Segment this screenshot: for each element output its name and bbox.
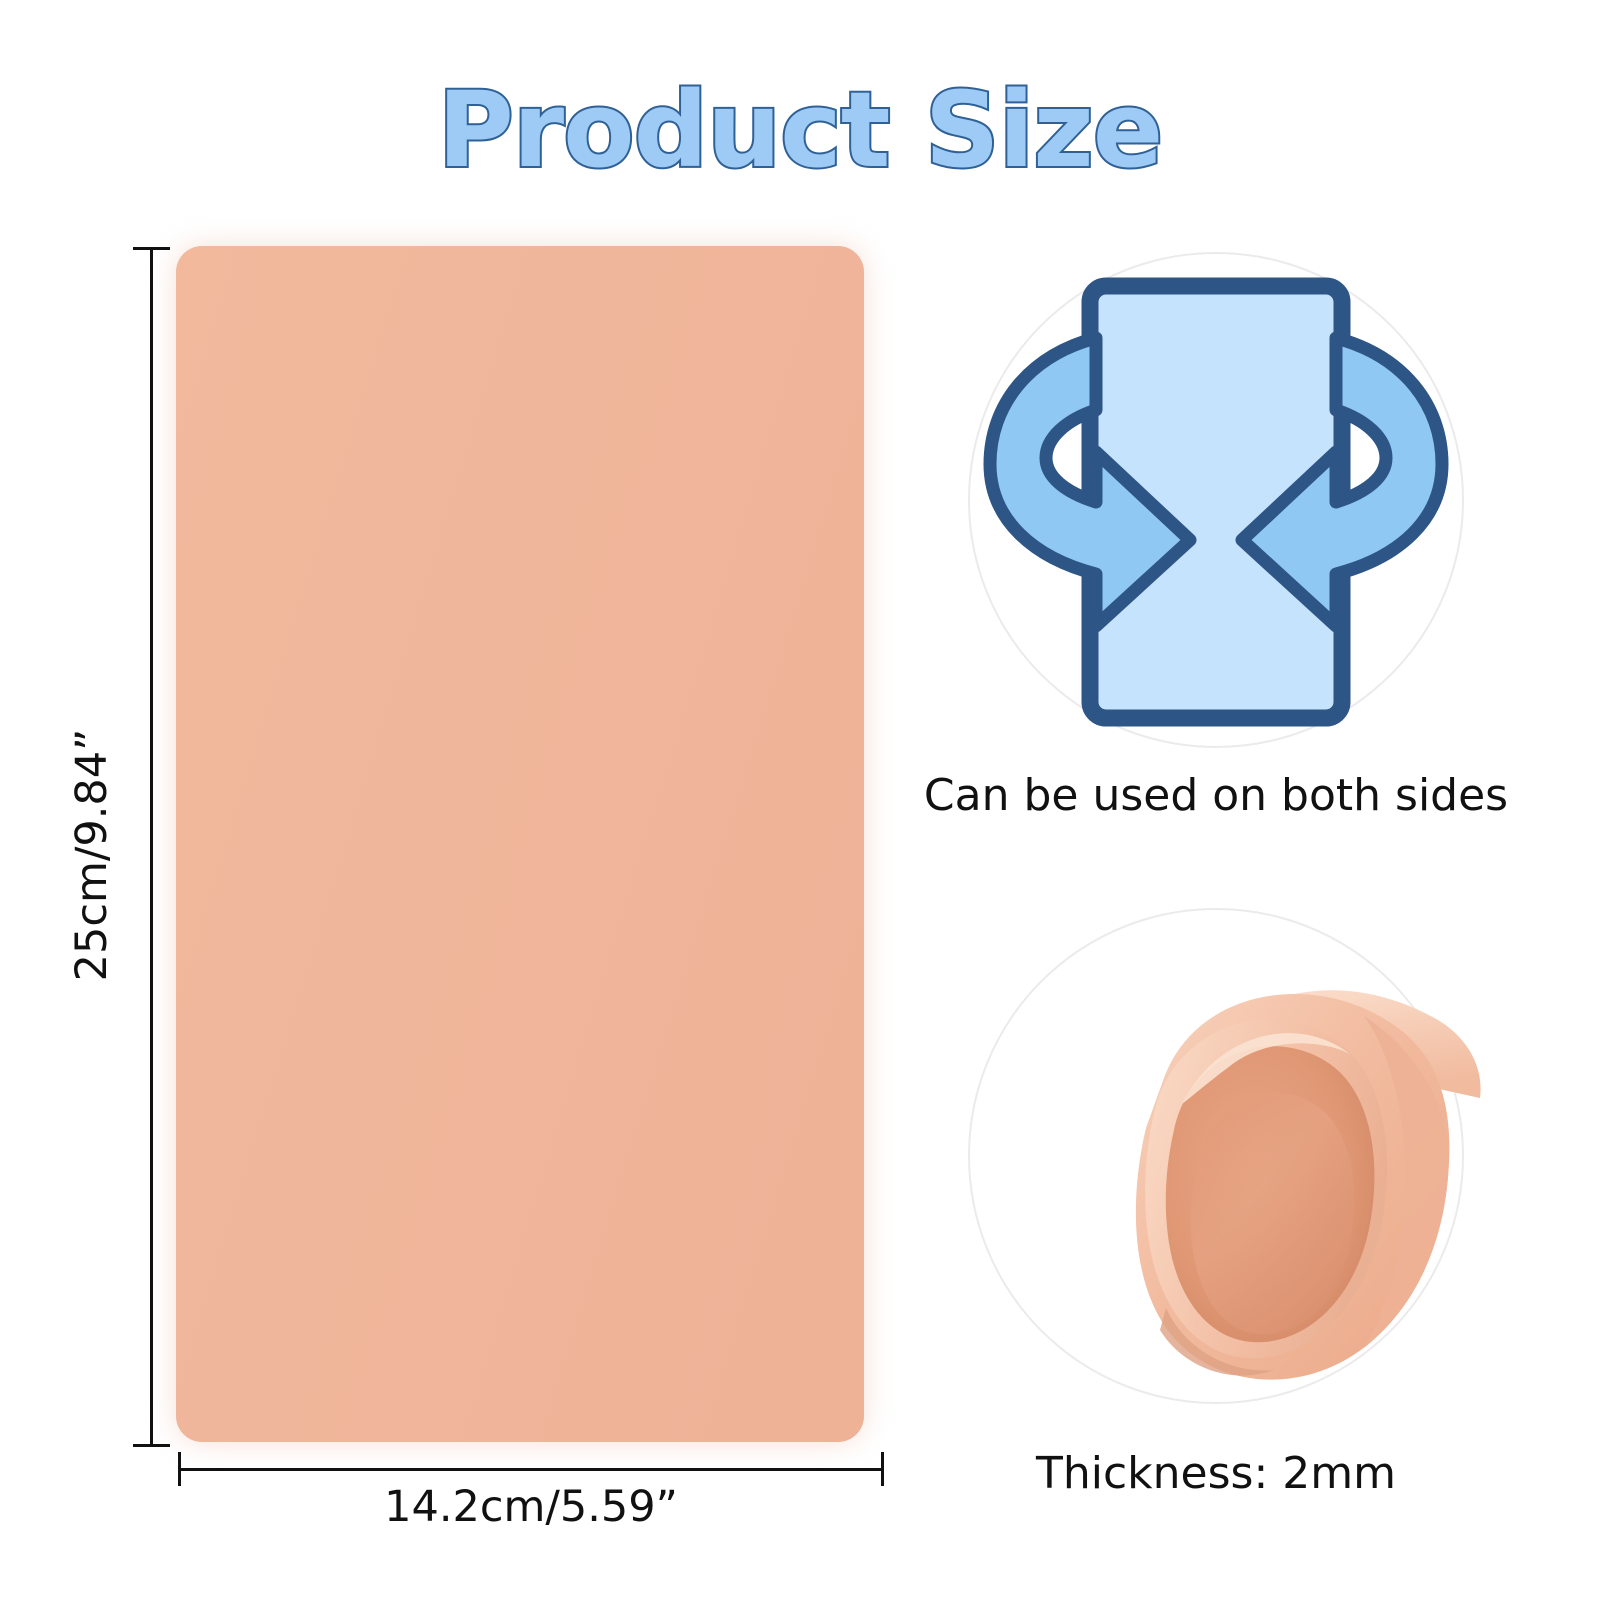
- product-size-infographic: Product Size 25cm/9.84” 14.2cm/5.59” Can…: [0, 0, 1600, 1600]
- width-dimension-label: 14.2cm/5.59”: [178, 1482, 884, 1532]
- height-dimension-line: [150, 248, 153, 1446]
- height-dimension-cap-bottom: [133, 1444, 170, 1447]
- height-dimension-label: 25cm/9.84”: [67, 695, 117, 1015]
- double-sided-flip-icon: [968, 252, 1464, 748]
- width-dimension-cap-right: [881, 1452, 884, 1486]
- width-dimension-line: [178, 1468, 884, 1471]
- rolled-mat-photo: [968, 908, 1488, 1428]
- width-dimension-cap-left: [178, 1452, 181, 1486]
- height-dimension-cap-top: [133, 247, 170, 250]
- page-title: Product Size: [0, 78, 1600, 182]
- feature-caption-thickness: Thickness: 2mm: [906, 1448, 1526, 1499]
- product-mat: [176, 246, 864, 1442]
- feature-caption-both-sides: Can be used on both sides: [906, 770, 1526, 821]
